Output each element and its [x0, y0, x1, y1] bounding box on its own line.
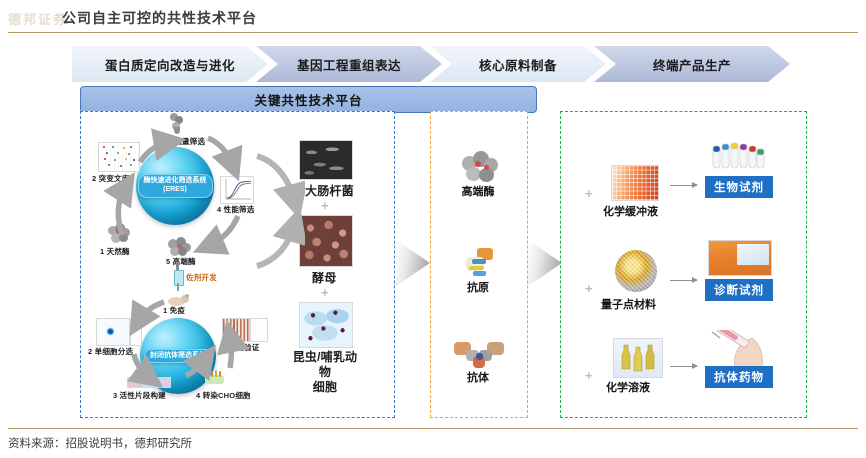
yeast-image [299, 215, 353, 267]
right-plus-1: + [585, 186, 593, 201]
high-end-enzyme-structure-image [460, 150, 500, 184]
adjuvant-development-label: 佐剂开发 [186, 272, 217, 283]
mid-item-antibody-label: 抗体 [430, 372, 526, 385]
flow-arrow-mid-to-right [528, 240, 562, 286]
header-divider [8, 32, 858, 33]
mid-item-antibody: 抗体 [430, 340, 526, 385]
host-label-insect-mammalian: 昆虫/哺乳动物 细胞 [287, 350, 363, 395]
page-title: 公司自主可控的共性技术平台 [62, 8, 257, 28]
process-chevron-band: 蛋白质定向改造与进化 基因工程重组表达 核心原料制备 终端产品生产 [72, 46, 858, 82]
quantum-dot-material-image [615, 250, 657, 292]
host-plus-2: + [321, 285, 329, 300]
right-plus-3: + [585, 368, 593, 383]
right-output-chip-1[interactable]: 生物试剂 [705, 176, 773, 198]
right-input-label-1: 化学缓冲液 [603, 203, 658, 219]
insect-mammalian-cell-image [299, 302, 353, 348]
host-merge-arrows [255, 150, 305, 270]
host-label-yeast: 酵母 [312, 269, 336, 286]
mid-item-antigen: 抗原 [430, 248, 526, 295]
source-note: 资料来源：招股说明书，德邦研究所 [8, 435, 192, 451]
key-platform-banner: 关键共性技术平台 [80, 86, 537, 113]
chevron-step-2[interactable]: 基因工程重组表达 [256, 46, 442, 82]
syringe-icon [173, 262, 183, 292]
chemical-buffer-plate-image [611, 165, 659, 201]
right-output-chip-3[interactable]: 抗体药物 [705, 366, 773, 388]
chevron-step-2-label: 基因工程重组表达 [297, 55, 401, 74]
chevron-step-1-label: 蛋白质定向改造与进化 [105, 55, 235, 74]
right-arrow-3 [670, 366, 697, 367]
bio-reagent-vials-image [711, 140, 767, 170]
mid-item-enzyme: 高端酶 [430, 150, 526, 199]
mid-item-enzyme-label: 高端酶 [430, 186, 526, 199]
chevron-step-3[interactable]: 核心原料制备 [430, 46, 606, 82]
right-input-label-3: 化学溶液 [606, 379, 650, 395]
slide-canvas: 德邦证券 公司自主可控的共性技术平台 蛋白质定向改造与进化 基因工程重组表达 核… [0, 0, 866, 458]
right-output-chip-2[interactable]: 诊断试剂 [705, 279, 773, 301]
flow-arrow-left-to-mid [396, 240, 430, 286]
footer-divider [8, 428, 858, 429]
mid-item-antigen-label: 抗原 [430, 282, 526, 295]
host-plus-1: + [321, 198, 329, 213]
vial-rack-icon [711, 140, 767, 170]
right-input-label-2: 量子点材料 [601, 296, 656, 312]
chevron-step-4-label: 终端产品生产 [653, 55, 731, 74]
chevron-step-3-label: 核心原料制备 [479, 55, 557, 74]
diagnostic-kit-box-image [708, 240, 772, 276]
antibody-cycle-arrows [90, 296, 270, 406]
publisher-watermark: 德邦证券 [8, 9, 58, 25]
chemical-solution-ampoules-image [613, 338, 663, 378]
ampoule-icon [614, 339, 662, 377]
chevron-step-1[interactable]: 蛋白质定向改造与进化 [72, 46, 268, 82]
right-arrow-2 [670, 280, 697, 281]
antibody-structure-image [454, 340, 504, 370]
chevron-step-4[interactable]: 终端产品生产 [594, 46, 790, 82]
antigen-structure-image [463, 248, 497, 280]
right-plus-2: + [585, 281, 593, 296]
host-label-ecoli: 大肠杆菌 [305, 182, 354, 199]
ecoli-image [299, 140, 353, 180]
enzyme-cycle-arrows [86, 112, 276, 277]
right-arrow-1 [670, 185, 697, 186]
